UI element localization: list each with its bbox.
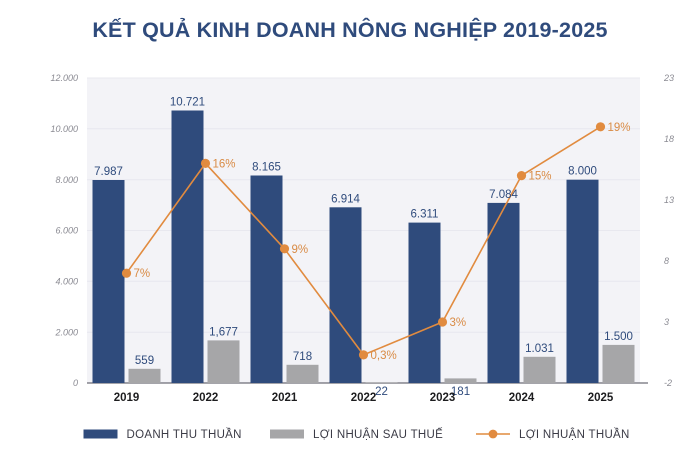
chart-figure: KẾT QUẢ KINH DOANH NÔNG NGHIỆP 2019-2025… [0,0,700,470]
line-value-label: 7% [134,268,151,280]
line-data-point [280,244,289,253]
bar-profit-after-tax [208,340,240,383]
category-label: 2022 [193,392,219,404]
bar-profit-label: 1.031 [525,343,554,355]
bar-revenue [172,111,204,384]
bar-profit-after-tax [524,357,556,383]
bar-profit-label: 1,677 [209,326,238,338]
bar-profit-after-tax [129,369,161,383]
legend-swatch-icon [270,430,304,439]
line-data-point [359,350,368,359]
y-axis-right-tick-label: 23 [663,73,674,83]
bar-revenue-label: 10.721 [170,97,205,109]
y-axis-left-tick-label: 8.000 [55,175,78,185]
legend-label: LỢI NHUẬN THUẦN [519,428,630,441]
legend-item[interactable]: LỢI NHUẬN SAU THUẾ [270,428,443,441]
bar-profit-label: 1.500 [604,331,633,343]
bar-profit-after-tax [366,382,398,383]
y-axis-right-tick-label: 3 [664,317,669,327]
line-data-point [438,317,447,326]
legend-label: LỢI NHUẬN SAU THUẾ [313,428,443,441]
bar-profit-label: 22 [375,386,388,398]
line-value-label: 9% [292,244,309,256]
legend-swatch-icon [84,430,118,439]
line-data-point [122,269,131,278]
y-axis-right-ticks: -238131823 [663,73,674,388]
category-label: 2022 [351,392,377,404]
bar-revenue [330,207,362,383]
bar-revenue-label: 8.000 [568,166,597,178]
bar-revenue-label: 6.311 [411,209,439,221]
bar-revenue [409,223,441,383]
bar-revenue-label: 6.914 [331,193,360,205]
bar-revenue-label: 7.987 [94,166,123,178]
y-axis-left-tick-label: 6.000 [55,226,78,236]
legend-marker-icon [489,430,498,439]
bar-revenue-label: 8.165 [252,162,281,174]
bar-revenue [567,180,599,383]
combo-chart-svg: 02.0004.0006.0008.00010.00012.000 -23813… [0,0,700,470]
line-value-label: 0,3% [371,350,397,362]
category-label: 2019 [114,392,140,404]
y-axis-left-tick-label: 12.000 [50,73,78,83]
category-label: 2024 [509,392,535,404]
line-data-point [517,171,526,180]
chart-legend: DOANH THU THUẦNLỢI NHUẬN SAU THUẾLỢI NHU… [84,428,630,441]
bar-revenue [93,180,125,383]
y-axis-left-tick-label: 10.000 [50,124,78,134]
line-value-label: 3% [450,317,467,329]
legend-item[interactable]: LỢI NHUẬN THUẦN [476,428,630,441]
line-value-label: 16% [213,158,236,170]
line-value-label: 15% [529,171,552,183]
legend-item[interactable]: DOANH THU THUẦN [84,428,242,441]
y-axis-left-tick-label: 2.000 [54,327,78,337]
y-axis-left-tick-label: 4.000 [55,277,78,287]
y-axis-left-ticks: 02.0004.0006.0008.00010.00012.000 [50,73,78,388]
y-axis-left-tick-label: 0 [73,378,78,388]
category-label: 2025 [588,392,614,404]
bar-profit-after-tax [287,365,319,383]
line-data-point [201,159,210,168]
bar-profit-label: 718 [293,351,312,363]
chart-plot-area: 02.0004.0006.0008.00010.00012.000 -23813… [0,0,700,470]
bar-profit-label: 559 [135,355,154,367]
category-labels: 2019202220212022202320242025 [114,392,614,404]
line-data-point [596,122,605,131]
category-label: 2021 [272,392,298,404]
bar-revenue-label: 7.084 [489,189,518,201]
line-value-label: 19% [608,122,631,134]
y-axis-right-tick-label: 18 [664,134,674,144]
bar-profit-after-tax [445,378,477,383]
bar-profit-after-tax [603,345,635,383]
bar-revenue [251,176,283,384]
y-axis-right-tick-label: 13 [664,195,674,205]
category-label: 2023 [430,392,456,404]
y-axis-right-tick-label: -2 [664,378,672,388]
y-axis-right-tick-label: 8 [664,256,669,266]
legend-label: DOANH THU THUẦN [127,428,242,441]
